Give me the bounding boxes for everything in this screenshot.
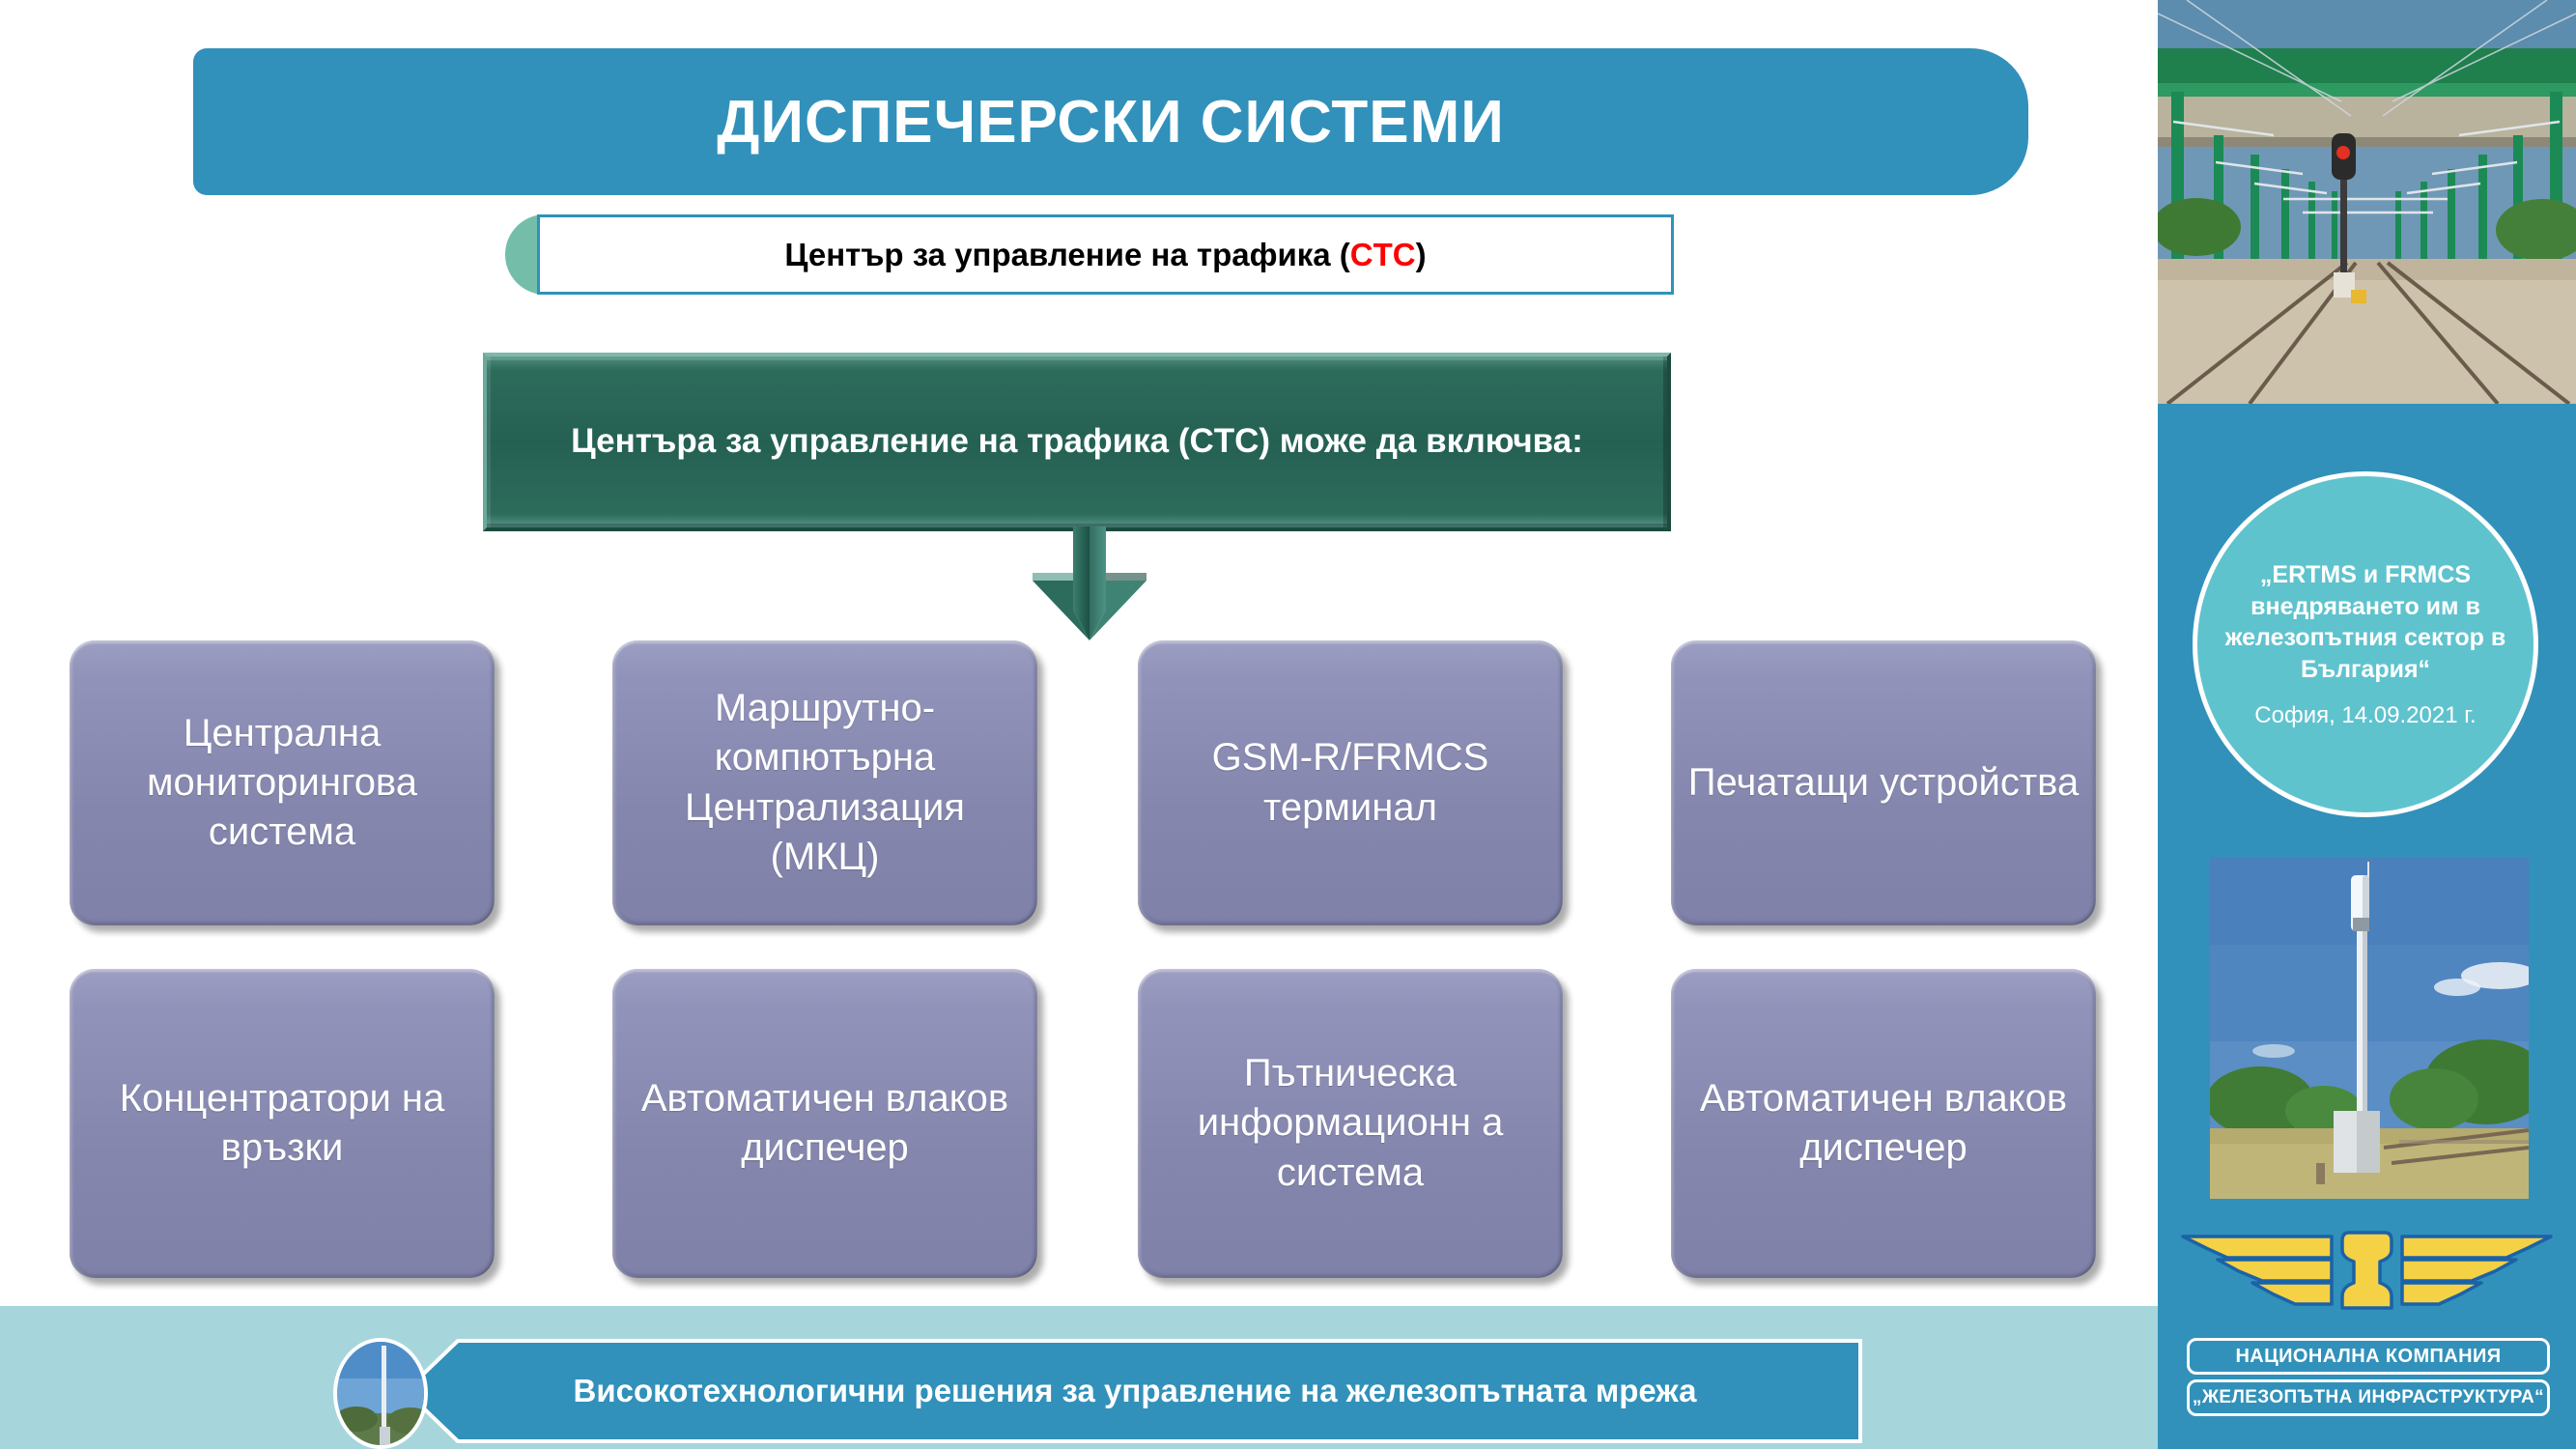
subtitle-suffix: ): [1416, 237, 1427, 272]
logo-line-1: НАЦИОНАЛНА КОМПАНИЯ: [2235, 1346, 2501, 1368]
component-box[interactable]: Пътническа информационн а система: [1138, 969, 1563, 1278]
component-box[interactable]: Автоматичен влаков диспечер: [1671, 969, 2096, 1278]
component-label: Маршрутно-компютърна Централизация (МКЦ): [612, 684, 1037, 882]
intro-callout-text: Центъра за управление на трафика (CTC) м…: [565, 419, 1589, 464]
component-box[interactable]: Централна мониторингова система: [70, 640, 495, 925]
component-label: Печатащи устройства: [1675, 758, 2092, 808]
intro-callout-box: Центъра за управление на трафика (CTC) м…: [483, 353, 1671, 531]
footer-caption: Високотехнологични решения за управление…: [454, 1339, 1816, 1443]
logo-line-2: „ЖЕЛЕЗОПЪТНА ИНФРАСТРУКТУРА“: [2193, 1387, 2544, 1408]
subtitle-pill: Център за управление на трафика (CTC): [505, 214, 1674, 295]
component-box[interactable]: Автоматичен влаков диспечер: [612, 969, 1037, 1278]
logo-plate-name: „ЖЕЛЕЗОПЪТНА ИНФРАСТРУКТУРА“: [2187, 1379, 2550, 1416]
component-box[interactable]: Маршрутно-компютърна Централизация (МКЦ): [612, 640, 1037, 925]
event-badge: „ERTMS и FRMCS внедряването им в железоп…: [2193, 471, 2538, 817]
nric-winged-rail-logo: [2177, 1219, 2557, 1325]
subtitle-prefix: Център за управление на трафика (: [784, 237, 1349, 272]
component-label: Автоматичен влаков диспечер: [1671, 1074, 2096, 1173]
subtitle-text: Център за управление на трафика (CTC): [784, 237, 1426, 273]
logo-plate-company: НАЦИОНАЛНА КОМПАНИЯ: [2187, 1338, 2550, 1375]
subtitle-accent: CTC: [1350, 237, 1416, 272]
right-sidebar: „ERTMS и FRMCS внедряването им в железоп…: [2158, 0, 2576, 1449]
slide-title-banner: ДИСПЕЧЕРСКИ СИСТЕМИ: [193, 48, 2028, 195]
component-label: GSM-R/FRMCS терминал: [1138, 733, 1563, 832]
component-label: Автоматичен влаков диспечер: [612, 1074, 1037, 1173]
component-label: Пътническа информационн а система: [1138, 1049, 1563, 1198]
down-arrow-icon: [1027, 526, 1152, 642]
gsm-r-mast-photo: [2210, 858, 2529, 1199]
component-box[interactable]: Печатащи устройства: [1671, 640, 2096, 925]
component-box[interactable]: GSM-R/FRMCS терминал: [1138, 640, 1563, 925]
component-label: Централна мониторингова система: [70, 709, 495, 858]
footer-thumbnail-image: [333, 1338, 428, 1449]
page-title: ДИСПЕЧЕРСКИ СИСТЕМИ: [717, 88, 1505, 156]
subtitle-box: Център за управление на трафика (CTC): [537, 214, 1674, 295]
railway-tracks-photo: [2158, 0, 2576, 404]
badge-date: София, 14.09.2021 г.: [2254, 702, 2476, 729]
component-box[interactable]: Концентратори на връзки: [70, 969, 495, 1278]
badge-title: „ERTMS и FRMCS внедряването им в железоп…: [2224, 559, 2506, 685]
component-label: Концентратори на връзки: [70, 1074, 495, 1173]
